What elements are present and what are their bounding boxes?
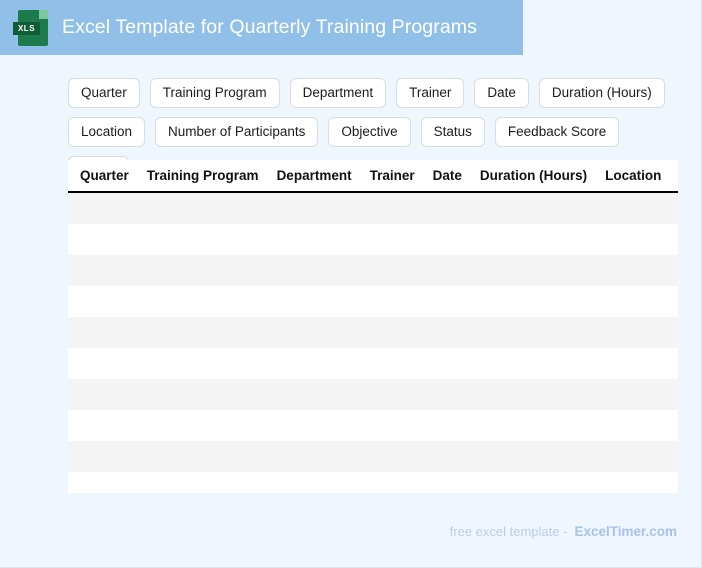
table-cell[interactable]: [361, 472, 424, 493]
table-cell[interactable]: [361, 410, 424, 441]
table-cell[interactable]: [361, 192, 424, 224]
table-cell[interactable]: [68, 410, 138, 441]
table-cell[interactable]: [424, 348, 471, 379]
table-column-header: Quarter: [68, 160, 138, 192]
table-cell[interactable]: [670, 410, 678, 441]
table-column-header: Department: [268, 160, 361, 192]
table-cell[interactable]: [138, 224, 268, 255]
table-cell[interactable]: [68, 379, 138, 410]
table-cell[interactable]: [471, 255, 596, 286]
table-cell[interactable]: [361, 224, 424, 255]
field-chip[interactable]: Objective: [328, 117, 410, 147]
table-cell[interactable]: [670, 317, 678, 348]
table-row[interactable]: [68, 317, 678, 348]
table-column-header: Trainer: [361, 160, 424, 192]
table-cell[interactable]: [596, 379, 670, 410]
table-cell[interactable]: [138, 348, 268, 379]
table-cell[interactable]: [670, 286, 678, 317]
xls-icon-fold: [39, 10, 48, 19]
field-chip[interactable]: Feedback Score: [495, 117, 619, 147]
table-cell[interactable]: [670, 379, 678, 410]
table-column-header: Number of Participants: [670, 160, 678, 192]
table-cell[interactable]: [596, 348, 670, 379]
table-cell[interactable]: [471, 286, 596, 317]
table-cell[interactable]: [268, 317, 361, 348]
table-cell[interactable]: [424, 286, 471, 317]
table-column-header: Training Program: [138, 160, 268, 192]
table-cell[interactable]: [670, 192, 678, 224]
table-cell[interactable]: [68, 224, 138, 255]
table-cell[interactable]: [361, 317, 424, 348]
table-cell[interactable]: [138, 472, 268, 493]
table-cell[interactable]: [361, 441, 424, 472]
table-cell[interactable]: [596, 255, 670, 286]
table-cell[interactable]: [138, 192, 268, 224]
table-cell[interactable]: [424, 441, 471, 472]
table-cell[interactable]: [268, 255, 361, 286]
table-cell[interactable]: [596, 224, 670, 255]
table-cell[interactable]: [424, 192, 471, 224]
table-cell[interactable]: [138, 255, 268, 286]
field-chip[interactable]: Quarter: [68, 78, 140, 108]
table-cell[interactable]: [471, 348, 596, 379]
field-chip[interactable]: Location: [68, 117, 145, 147]
table-cell[interactable]: [138, 286, 268, 317]
table-column-header: Duration (Hours): [471, 160, 596, 192]
field-chip[interactable]: Status: [421, 117, 485, 147]
template-table-container[interactable]: QuarterTraining ProgramDepartmentTrainer…: [68, 160, 678, 493]
template-table: QuarterTraining ProgramDepartmentTrainer…: [68, 160, 678, 493]
table-cell[interactable]: [596, 472, 670, 493]
table-cell[interactable]: [424, 224, 471, 255]
table-cell[interactable]: [268, 472, 361, 493]
table-row[interactable]: [68, 348, 678, 379]
table-cell[interactable]: [670, 224, 678, 255]
table-cell[interactable]: [670, 472, 678, 493]
table-cell[interactable]: [596, 192, 670, 224]
table-cell[interactable]: [670, 255, 678, 286]
table-header-row: QuarterTraining ProgramDepartmentTrainer…: [68, 160, 678, 192]
footer-brand-link[interactable]: ExcelTimer.com: [574, 524, 677, 539]
table-cell[interactable]: [361, 379, 424, 410]
field-chip[interactable]: Trainer: [396, 78, 464, 108]
table-cell[interactable]: [361, 286, 424, 317]
table-row[interactable]: [68, 255, 678, 286]
field-chip[interactable]: Training Program: [150, 78, 280, 108]
table-cell[interactable]: [471, 472, 596, 493]
table-column-header: Location: [596, 160, 670, 192]
field-chip[interactable]: Date: [474, 78, 529, 108]
table-cell[interactable]: [138, 379, 268, 410]
table-cell[interactable]: [596, 441, 670, 472]
table-cell[interactable]: [471, 317, 596, 348]
table-cell[interactable]: [68, 348, 138, 379]
table-cell[interactable]: [361, 348, 424, 379]
table-cell[interactable]: [68, 286, 138, 317]
table-cell[interactable]: [268, 410, 361, 441]
table-row[interactable]: [68, 441, 678, 472]
table-cell[interactable]: [471, 410, 596, 441]
table-cell[interactable]: [471, 379, 596, 410]
page-title: Excel Template for Quarterly Training Pr…: [62, 16, 477, 39]
xls-file-icon: XLS: [18, 10, 48, 46]
table-cell[interactable]: [268, 441, 361, 472]
table-cell[interactable]: [424, 472, 471, 493]
table-cell[interactable]: [424, 255, 471, 286]
table-cell[interactable]: [68, 255, 138, 286]
table-cell[interactable]: [596, 410, 670, 441]
table-cell[interactable]: [471, 192, 596, 224]
table-body: [68, 192, 678, 493]
table-cell[interactable]: [268, 379, 361, 410]
table-cell[interactable]: [471, 441, 596, 472]
table-cell[interactable]: [424, 410, 471, 441]
table-column-header: Date: [424, 160, 471, 192]
field-chip[interactable]: Duration (Hours): [539, 78, 665, 108]
table-cell[interactable]: [670, 441, 678, 472]
table-cell[interactable]: [670, 348, 678, 379]
table-cell[interactable]: [68, 317, 138, 348]
table-cell[interactable]: [596, 317, 670, 348]
table-cell[interactable]: [596, 286, 670, 317]
field-chip[interactable]: Department: [290, 78, 387, 108]
table-cell[interactable]: [361, 255, 424, 286]
table-row[interactable]: [68, 286, 678, 317]
table-cell[interactable]: [68, 441, 138, 472]
table-cell[interactable]: [138, 317, 268, 348]
table-cell[interactable]: [268, 192, 361, 224]
table-cell[interactable]: [138, 410, 268, 441]
table-cell[interactable]: [68, 192, 138, 224]
app-header: XLS Excel Template for Quarterly Trainin…: [0, 0, 523, 55]
table-cell[interactable]: [268, 286, 361, 317]
table-cell[interactable]: [471, 224, 596, 255]
table-cell[interactable]: [424, 379, 471, 410]
table-cell[interactable]: [268, 348, 361, 379]
table-row[interactable]: [68, 224, 678, 255]
table-cell[interactable]: [138, 441, 268, 472]
table-cell[interactable]: [268, 224, 361, 255]
table-row[interactable]: [68, 192, 678, 224]
table-head: QuarterTraining ProgramDepartmentTrainer…: [68, 160, 678, 192]
table-cell[interactable]: [424, 317, 471, 348]
table-cell[interactable]: [68, 472, 138, 493]
field-chip[interactable]: Number of Participants: [155, 117, 318, 147]
xls-icon-badge-label: XLS: [13, 22, 40, 35]
footer-lead-text: free excel template -: [450, 524, 568, 539]
table-row[interactable]: [68, 472, 678, 493]
table-row[interactable]: [68, 410, 678, 441]
footer-attribution: free excel template - ExcelTimer.com: [450, 524, 677, 539]
table-row[interactable]: [68, 379, 678, 410]
